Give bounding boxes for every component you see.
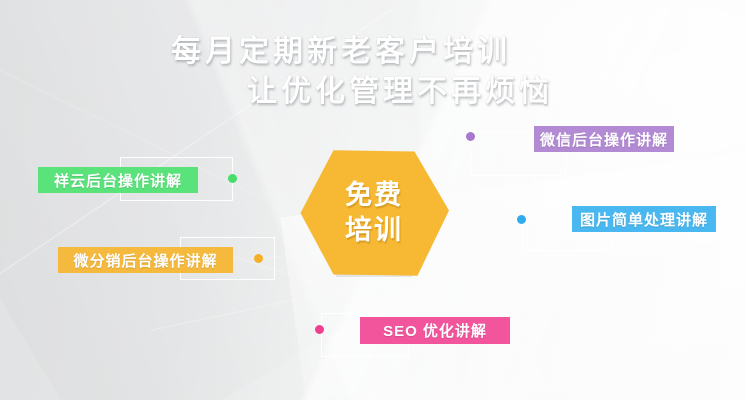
topic-weifenxiao[interactable]: 微分销后台操作讲解 [58, 236, 268, 286]
banner-title-line-2: 让优化管理不再烦恼 [247, 66, 553, 110]
free-training-badge[interactable]: 免费 培训 [299, 149, 449, 277]
promo-banner: 每月定期新老客户培训 让优化管理不再烦恼 免费 培训 祥云后台操作讲解 微分销后… [0, 0, 746, 400]
topic-seo[interactable]: SEO 优化讲解 [315, 311, 510, 361]
topic-xiangyun[interactable]: 祥云后台操作讲解 [38, 155, 243, 205]
topic-label-seo[interactable]: SEO 优化讲解 [360, 317, 510, 344]
banner-title-line-1: 每月定期新老客户培训 [171, 26, 511, 70]
topic-connector-dot [517, 215, 526, 224]
topic-label-weixin[interactable]: 微信后台操作讲解 [534, 126, 674, 152]
topic-weixin[interactable]: 微信后台操作讲解 [464, 126, 674, 178]
badge-label-line-1: 免费 [345, 178, 403, 213]
background-crease-line [560, 0, 702, 240]
topic-label-xiangyun[interactable]: 祥云后台操作讲解 [38, 167, 198, 193]
topic-label-tupian[interactable]: 图片简单处理讲解 [572, 206, 716, 232]
topic-connector-dot [466, 132, 475, 141]
badge-label-line-2: 培训 [345, 213, 403, 248]
topic-connector-dot [228, 174, 237, 183]
topic-connector-dot [315, 325, 324, 334]
topic-connector-dot [254, 254, 263, 263]
topic-tupian[interactable]: 图片简单处理讲解 [516, 206, 716, 256]
topic-label-weifenxiao[interactable]: 微分销后台操作讲解 [58, 247, 233, 273]
hexagon-shape: 免费 培训 [299, 149, 449, 277]
